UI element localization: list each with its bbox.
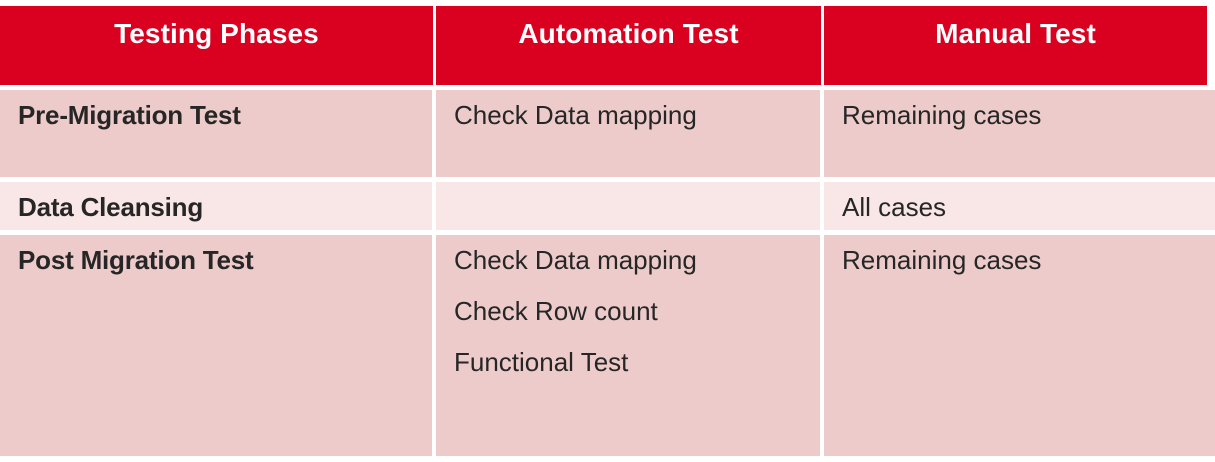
list-item: Remaining cases [842, 247, 1215, 273]
cell-manual-post-migration-test: Remaining cases [824, 230, 1215, 456]
list-item: Remaining cases [842, 102, 1215, 128]
manual-item-list: Remaining cases [842, 247, 1215, 273]
table-row-data-cleansing: Data Cleansing All cases [0, 177, 1215, 230]
column-header-automation-test: Automation Test [436, 6, 824, 85]
table-header: Testing Phases Automation Test Manual Te… [0, 6, 1215, 85]
manual-item-list: Remaining cases [842, 102, 1215, 128]
list-item: Functional Test [454, 349, 820, 375]
list-item: Check Data mapping [454, 102, 820, 128]
table-row-post-migration-test: Post Migration Test Check Data mapping C… [0, 230, 1215, 456]
cell-phase-data-cleansing: Data Cleansing [0, 177, 436, 230]
cell-automation-data-cleansing [436, 177, 824, 230]
list-item: All cases [842, 194, 1215, 220]
list-item: Check Row count [454, 298, 820, 324]
column-header-testing-phases: Testing Phases [0, 6, 436, 85]
list-item: Check Data mapping [454, 247, 820, 273]
empty-value [454, 194, 820, 195]
automation-item-list: Check Data mapping Check Row count Funct… [454, 247, 820, 375]
testing-phases-table-container: Testing Phases Automation Test Manual Te… [0, 0, 1215, 462]
manual-item-list: All cases [842, 194, 1215, 220]
cell-phase-post-migration-test: Post Migration Test [0, 230, 436, 456]
column-header-manual-test: Manual Test [824, 6, 1215, 85]
cell-automation-post-migration-test: Check Data mapping Check Row count Funct… [436, 230, 824, 456]
cell-automation-pre-migration-test: Check Data mapping [436, 85, 824, 177]
table-body: Pre-Migration Test Check Data mapping Re… [0, 85, 1215, 456]
cell-manual-data-cleansing: All cases [824, 177, 1215, 230]
header-row: Testing Phases Automation Test Manual Te… [0, 6, 1215, 85]
cell-phase-pre-migration-test: Pre-Migration Test [0, 85, 436, 177]
cell-manual-pre-migration-test: Remaining cases [824, 85, 1215, 177]
table-row-pre-migration-test: Pre-Migration Test Check Data mapping Re… [0, 85, 1215, 177]
testing-phases-table: Testing Phases Automation Test Manual Te… [0, 6, 1215, 456]
automation-item-list: Check Data mapping [454, 102, 820, 128]
